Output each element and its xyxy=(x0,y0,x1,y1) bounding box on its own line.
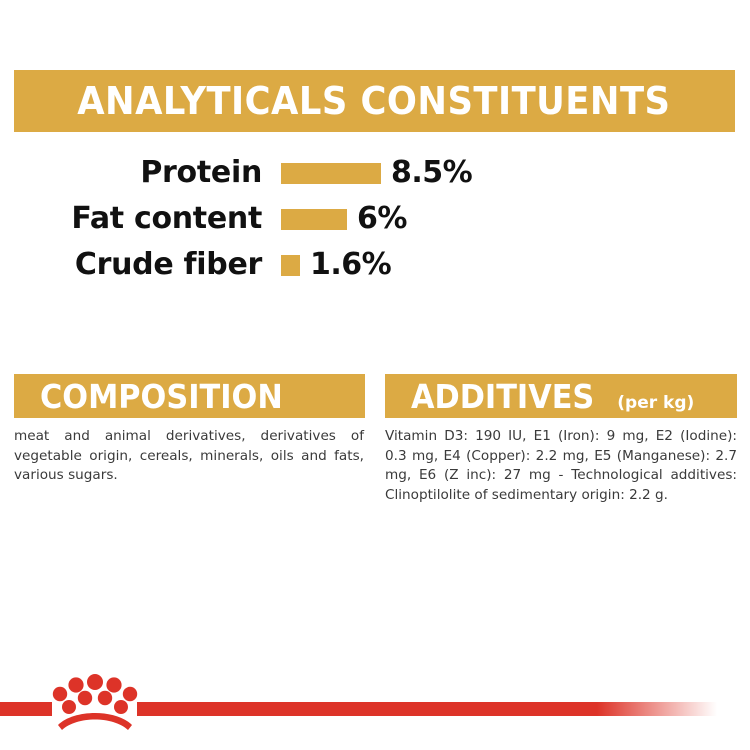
additives-subtitle: (per kg) xyxy=(617,395,694,421)
constituent-bar xyxy=(281,255,300,276)
analytical-constituents-banner: ANALYTICALS CONSTITUENTS xyxy=(14,70,735,132)
composition-panel: COMPOSITION meat and animal derivatives,… xyxy=(14,374,365,486)
analytical-constituents-chart: Protein 8.5% Fat content 6% Crude fiber … xyxy=(0,150,520,288)
constituent-bar-wrap: 6% xyxy=(262,204,407,234)
constituent-label: Crude fiber xyxy=(0,250,262,280)
footer-rule-right xyxy=(137,702,750,716)
constituent-value: 8.5% xyxy=(381,158,472,188)
composition-title: COMPOSITION xyxy=(40,380,283,413)
constituent-bar xyxy=(281,209,347,230)
additives-panel: ADDITIVES (per kg) Vitamin D3: 190 IU, E… xyxy=(385,374,737,505)
royal-canin-crown-icon xyxy=(52,673,138,731)
composition-body-text: meat and animal derivatives, derivatives… xyxy=(14,427,365,486)
constituent-label: Fat content xyxy=(0,204,262,234)
constituent-value: 1.6% xyxy=(300,250,391,280)
constituent-bar xyxy=(281,163,381,184)
additives-body-text: Vitamin D3: 190 IU, E1 (Iron): 9 mg, E2 … xyxy=(385,427,737,505)
constituent-label: Protein xyxy=(0,158,262,188)
footer-rule-left xyxy=(0,702,52,716)
composition-header: COMPOSITION xyxy=(14,374,365,418)
additives-header: ADDITIVES (per kg) xyxy=(385,374,737,418)
additives-title: ADDITIVES xyxy=(411,380,594,413)
analytical-constituents-title: ANALYTICALS CONSTITUENTS xyxy=(14,82,670,120)
constituent-row: Crude fiber 1.6% xyxy=(0,242,520,288)
constituent-value: 6% xyxy=(347,204,407,234)
constituent-bar-wrap: 8.5% xyxy=(262,158,472,188)
constituent-row: Fat content 6% xyxy=(0,196,520,242)
constituent-bar-wrap: 1.6% xyxy=(262,250,391,280)
constituent-row: Protein 8.5% xyxy=(0,150,520,196)
